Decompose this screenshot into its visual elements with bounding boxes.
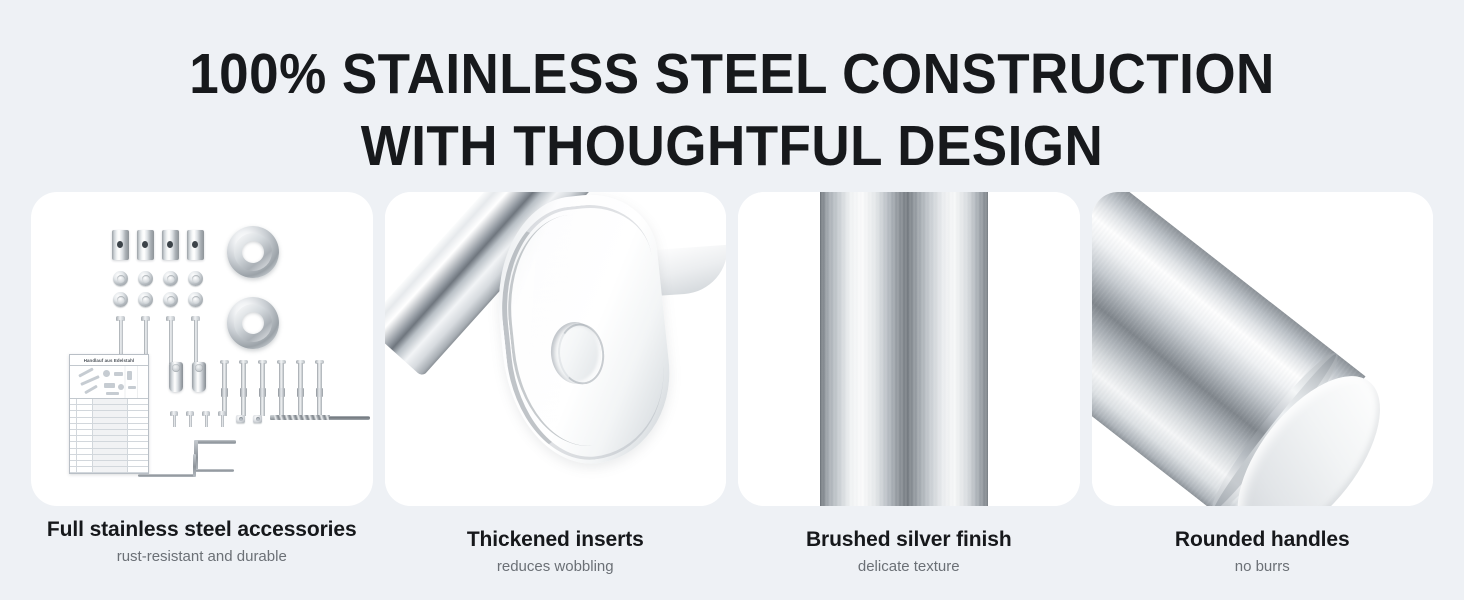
feature-card-accessories: Handlauf aus Edelstahl	[31, 192, 373, 506]
end-cap	[192, 362, 206, 392]
bolt	[166, 316, 175, 364]
anchor-bolt	[276, 360, 286, 416]
feature-card-handles	[1092, 192, 1434, 506]
brushed-tube	[820, 192, 988, 506]
feature-card-inserts	[385, 192, 727, 506]
handle-group	[1092, 192, 1434, 506]
caption-accessories: Full stainless steel accessories rust-re…	[31, 506, 373, 600]
screw	[186, 411, 194, 427]
washer	[188, 271, 203, 286]
headline-line-2: WITH THOUGHTFUL DESIGN	[51, 110, 1413, 182]
anchor-bolt	[219, 360, 229, 416]
screw	[218, 411, 226, 427]
washer	[163, 292, 178, 307]
manual-heading: Handlauf aus Edelstahl	[84, 358, 135, 363]
end-cap	[169, 362, 183, 392]
screw	[170, 411, 178, 427]
anchor-bolt	[314, 360, 324, 416]
sleeve-connector	[187, 230, 204, 260]
infographic-page: 100% STAINLESS STEEL CONSTRUCTION WITH T…	[0, 0, 1464, 600]
nut	[253, 415, 262, 423]
washer	[188, 292, 203, 307]
manual-parts-table	[70, 399, 148, 473]
stainless-hardware-kit-photo: Handlauf aus Edelstahl	[31, 192, 373, 506]
caption-subtitle: no burrs	[1092, 557, 1434, 576]
caption-title: Rounded handles	[1092, 528, 1434, 552]
flange-cover	[227, 297, 279, 349]
page-headline: 100% STAINLESS STEEL CONSTRUCTION WITH T…	[0, 38, 1464, 182]
screw	[202, 411, 210, 427]
instruction-manual: Handlauf aus Edelstahl	[69, 354, 149, 474]
feature-caption-row: Full stainless steel accessories rust-re…	[31, 506, 1433, 600]
anchor-bolt	[295, 360, 305, 416]
caption-handles: Rounded handles no burrs	[1092, 506, 1434, 600]
washer	[113, 292, 128, 307]
rounded-handle-end-closeup	[1092, 192, 1434, 506]
headline-line-1: 100% STAINLESS STEEL CONSTRUCTION	[51, 38, 1413, 110]
caption-finish: Brushed silver finish delicate texture	[738, 506, 1080, 600]
caption-subtitle: rust-resistant and durable	[31, 547, 373, 566]
caption-subtitle: delicate texture	[738, 557, 1080, 576]
feature-card-finish	[738, 192, 1080, 506]
caption-title: Brushed silver finish	[738, 528, 1080, 552]
caption-title: Full stainless steel accessories	[31, 518, 373, 542]
nut	[236, 415, 245, 423]
hardware-kit-group: Handlauf aus Edelstahl	[31, 192, 373, 506]
hex-key	[138, 454, 218, 480]
feature-card-row: Handlauf aus Edelstahl	[31, 192, 1433, 506]
sleeve-connector	[162, 230, 179, 260]
thickened-bracket-insert-closeup	[385, 192, 727, 506]
caption-subtitle: reduces wobbling	[385, 557, 727, 576]
manual-diagram	[70, 366, 148, 399]
washer	[138, 292, 153, 307]
bolt	[191, 316, 200, 364]
anchor-bolt	[238, 360, 248, 416]
washer	[138, 271, 153, 286]
washer	[163, 271, 178, 286]
sleeve-connector	[112, 230, 129, 260]
caption-inserts: Thickened inserts reduces wobbling	[385, 506, 727, 600]
caption-title: Thickened inserts	[385, 528, 727, 552]
drill-bit	[274, 413, 370, 422]
sleeve-connector	[137, 230, 154, 260]
anchor-bolt	[257, 360, 267, 416]
washer	[113, 271, 128, 286]
flange-cover	[227, 226, 279, 278]
brushed-steel-tube-closeup	[738, 192, 1080, 506]
